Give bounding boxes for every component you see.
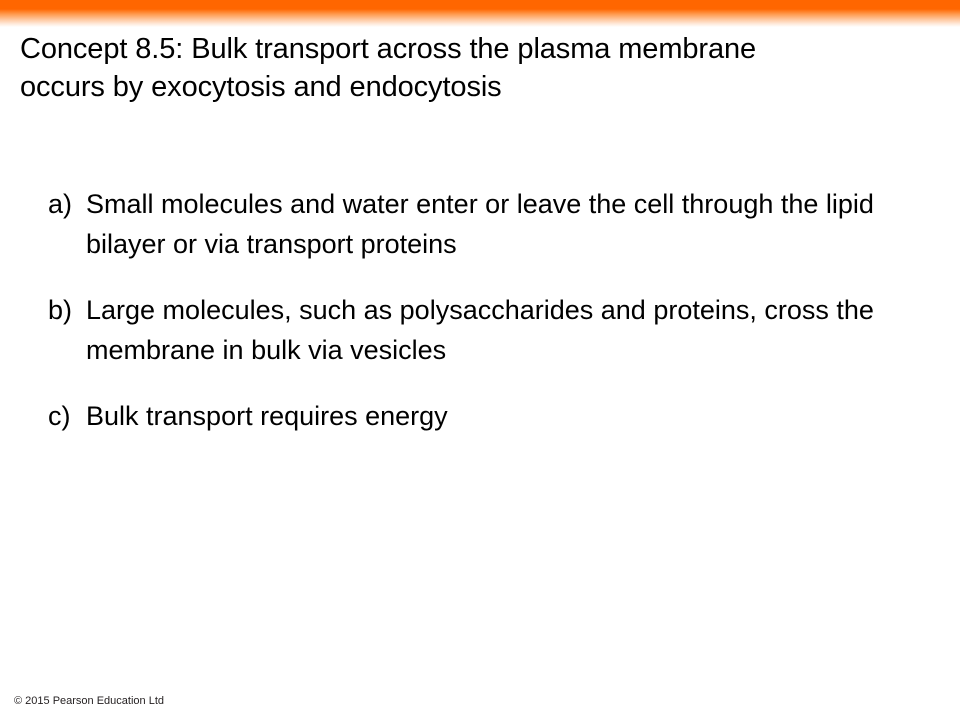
bullet-marker: c)	[48, 396, 86, 436]
accent-bar-solid	[0, 0, 960, 9]
slide-canvas: Concept 8.5: Bulk transport across the p…	[0, 0, 960, 720]
bullet-marker: a)	[48, 184, 86, 224]
decorative-top-band	[0, 0, 960, 27]
bullet-item: a) Small molecules and water enter or le…	[48, 184, 878, 264]
footer-copyright: © 2015 Pearson Education Ltd	[14, 694, 164, 708]
bullet-text: Bulk transport requires energy	[86, 396, 876, 436]
bullet-item: c) Bulk transport requires energy	[48, 396, 878, 436]
accent-bar-gradient	[0, 9, 960, 27]
bullet-text: Large molecules, such as polysaccharides…	[86, 290, 876, 370]
bullet-marker: b)	[48, 290, 86, 330]
bullet-text: Small molecules and water enter or leave…	[86, 184, 876, 264]
slide-title: Concept 8.5: Bulk transport across the p…	[20, 30, 820, 106]
bullet-list: a) Small molecules and water enter or le…	[48, 184, 878, 436]
bullet-item: b) Large molecules, such as polysacchari…	[48, 290, 878, 370]
